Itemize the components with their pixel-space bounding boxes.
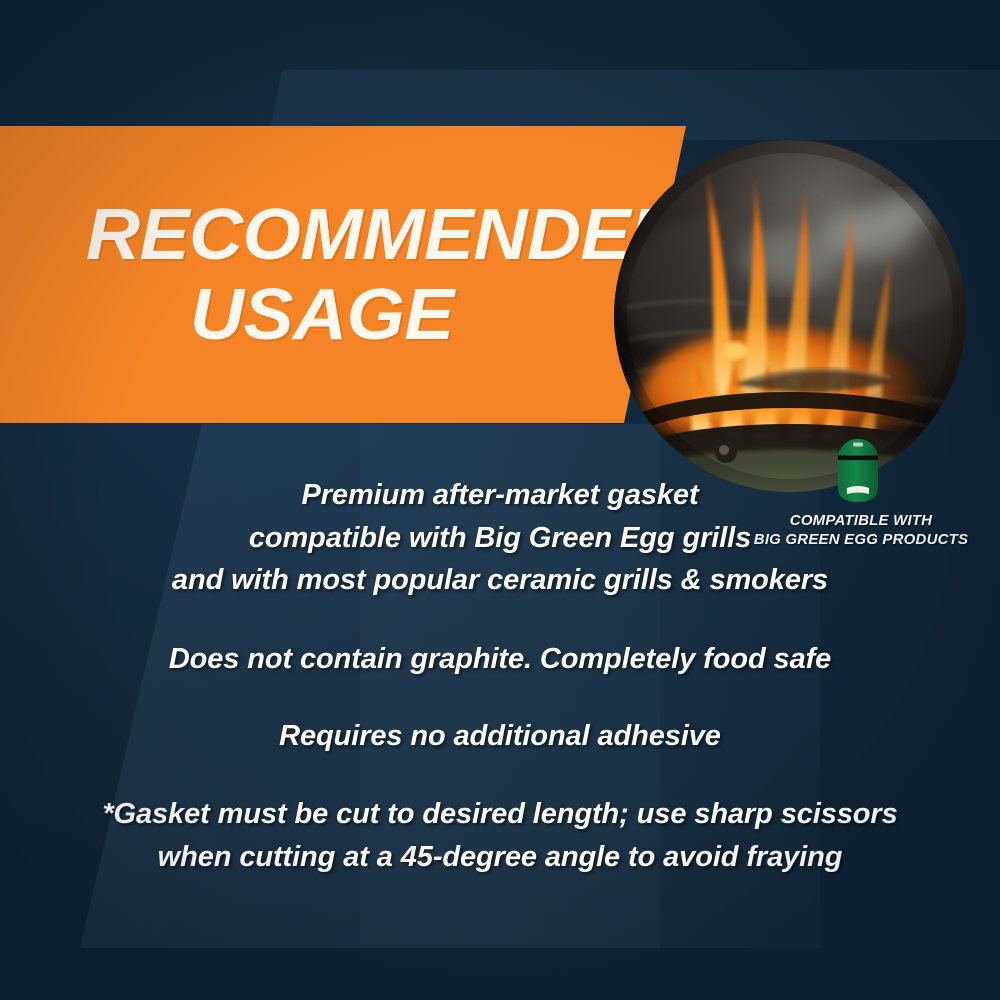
body-block-2: Does not contain graphite. Completely fo…: [0, 638, 1000, 681]
body-line: when cutting at a 45-degree angle to avo…: [0, 836, 1000, 879]
headline-banner-content: RECOMMENDED USAGE: [0, 126, 616, 425]
headline-banner: RECOMMENDED USAGE: [0, 126, 686, 425]
body-copy: Premium after-market gasket compatible w…: [0, 474, 1000, 910]
grill-fire-illustration: [614, 140, 966, 492]
body-line: Does not contain graphite. Completely fo…: [0, 638, 1000, 681]
body-block-3: Requires no additional adhesive: [0, 715, 1000, 758]
headline-line-1: RECOMMENDED: [86, 201, 637, 270]
body-line: and with most popular ceramic grills & s…: [0, 559, 1000, 602]
body-line: Premium after-market gasket: [0, 474, 1000, 517]
body-block-4: *Gasket must be cut to desired length; u…: [0, 793, 1000, 878]
body-line: Requires no additional adhesive: [0, 715, 1000, 758]
body-line: compatible with Big Green Egg grills: [0, 517, 1000, 560]
headline-line-2: USAGE: [75, 281, 626, 350]
body-line: *Gasket must be cut to desired length; u…: [0, 793, 1000, 836]
body-block-1: Premium after-market gasket compatible w…: [0, 474, 1000, 602]
grill-photo-art: [614, 140, 966, 492]
grill-photo-circle: [614, 140, 966, 492]
product-feature-graphic: RECOMMENDED USAGE: [0, 0, 1000, 1000]
